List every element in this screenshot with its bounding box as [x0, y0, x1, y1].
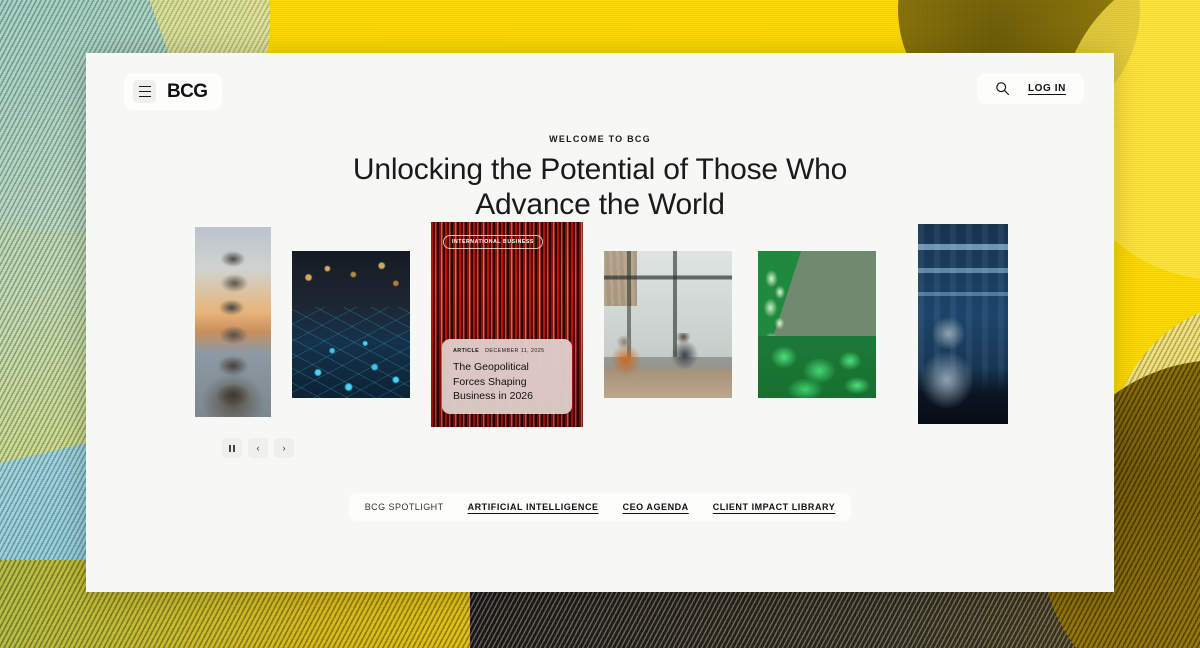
carousel-card-network[interactable]: [292, 251, 410, 398]
carousel-card-featured-article[interactable]: INTERNATIONAL BUSINESS ARTICLE DECEMBER …: [431, 222, 583, 427]
stones-image: [195, 227, 271, 417]
article-kicker: ARTICLE: [453, 348, 479, 354]
tab-ceo-agenda[interactable]: CEO AGENDA: [623, 502, 689, 512]
hero-eyebrow: WELCOME TO BCG: [86, 134, 1114, 144]
green-room-image: [758, 251, 876, 398]
desk-image: [604, 251, 732, 398]
featured-article-overlay: ARTICLE DECEMBER 11, 2025 The Geopolitic…: [442, 339, 572, 414]
carousel: INTERNATIONAL BUSINESS ARTICLE DECEMBER …: [86, 222, 1114, 427]
tab-artificial-intelligence[interactable]: ARTIFICIAL INTELLIGENCE: [468, 502, 599, 512]
footer-tabs-group: BCG SPOTLIGHT ARTIFICIAL INTELLIGENCE CE…: [349, 493, 852, 521]
control-room-image: [918, 224, 1008, 424]
header-right-group: LOG IN: [977, 73, 1084, 104]
article-title[interactable]: The Geopolitical Forces Shaping Business…: [453, 360, 561, 403]
carousel-card-green-room[interactable]: [758, 251, 876, 398]
carousel-card-stones[interactable]: [195, 227, 271, 417]
bcg-logo[interactable]: BCG: [167, 81, 207, 103]
login-link[interactable]: LOG IN: [1028, 83, 1066, 94]
next-arrow-icon[interactable]: ›: [274, 438, 294, 458]
search-icon[interactable]: [995, 81, 1010, 96]
category-tag: INTERNATIONAL BUSINESS: [443, 235, 543, 249]
content-panel: BCG LOG IN WELCOME TO BCG Unlocking the …: [86, 53, 1114, 592]
tab-bcg-spotlight[interactable]: BCG SPOTLIGHT: [365, 502, 444, 512]
network-image: [292, 251, 410, 398]
hamburger-icon[interactable]: [133, 80, 156, 103]
headline-line-1: Unlocking the Potential of Those Who: [353, 153, 847, 186]
footer-tabs: BCG SPOTLIGHT ARTIFICIAL INTELLIGENCE CE…: [86, 493, 1114, 521]
prev-arrow-icon[interactable]: ‹: [248, 438, 268, 458]
carousel-card-control-room[interactable]: [918, 224, 1008, 424]
page-root: BCG LOG IN WELCOME TO BCG Unlocking the …: [0, 0, 1200, 648]
headline-line-2: Advance the World: [475, 188, 725, 221]
carousel-card-desk[interactable]: [604, 251, 732, 398]
tab-client-impact-library[interactable]: CLIENT IMPACT LIBRARY: [713, 502, 836, 512]
carousel-controls: ‹ ›: [222, 438, 294, 458]
header-left-group: BCG: [124, 73, 222, 110]
pause-icon[interactable]: [222, 438, 242, 458]
article-meta: ARTICLE DECEMBER 11, 2025: [453, 348, 561, 354]
page-title: Unlocking the Potential of Those Who Adv…: [86, 152, 1114, 222]
article-date: DECEMBER 11, 2025: [485, 348, 544, 354]
